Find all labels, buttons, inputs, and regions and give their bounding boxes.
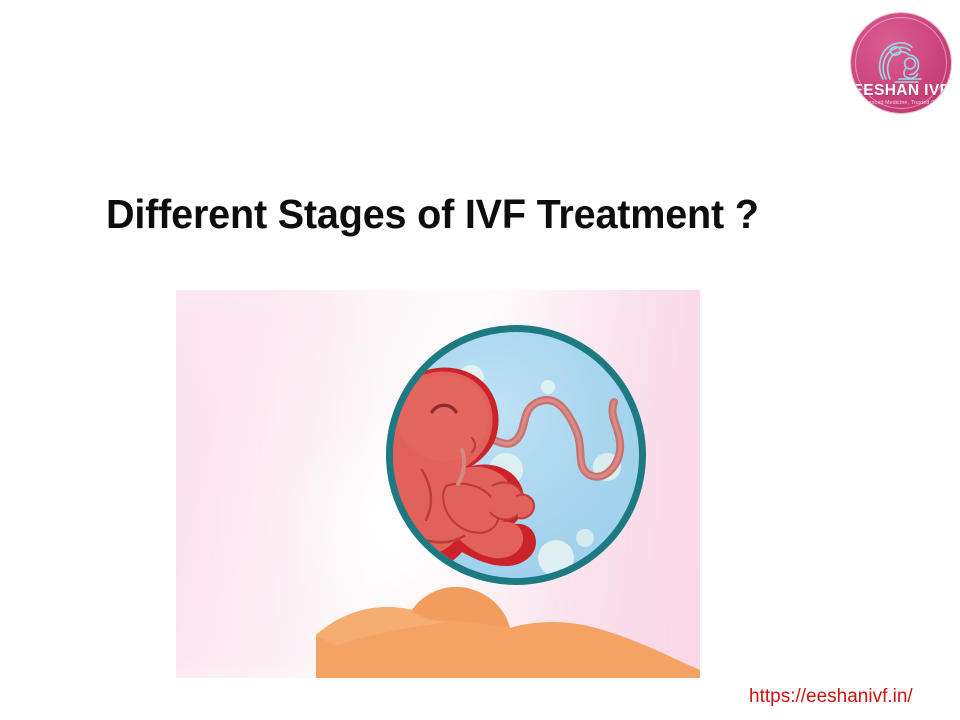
eeshan-ivf-logo[interactable]: EESHAN IVF Advanced Medicine, Trusted Ca…	[851, 13, 951, 113]
bubble-dot	[541, 380, 555, 394]
slide-canvas: EESHAN IVF Advanced Medicine, Trusted Ca…	[0, 0, 960, 720]
ivf-illustration-graphic	[176, 290, 700, 678]
mother-and-child-icon	[873, 39, 929, 85]
website-url[interactable]: https://eeshanivf.in/	[749, 686, 913, 708]
page-title: Different Stages of IVF Treatment ?	[106, 190, 759, 238]
logo-name-text: EESHAN IVF	[851, 83, 951, 99]
ivf-illustration	[176, 290, 700, 678]
bubble-dot	[576, 529, 594, 547]
fetus-fingers	[516, 495, 534, 519]
logo-tagline-text: Advanced Medicine, Trusted Care	[851, 101, 951, 106]
